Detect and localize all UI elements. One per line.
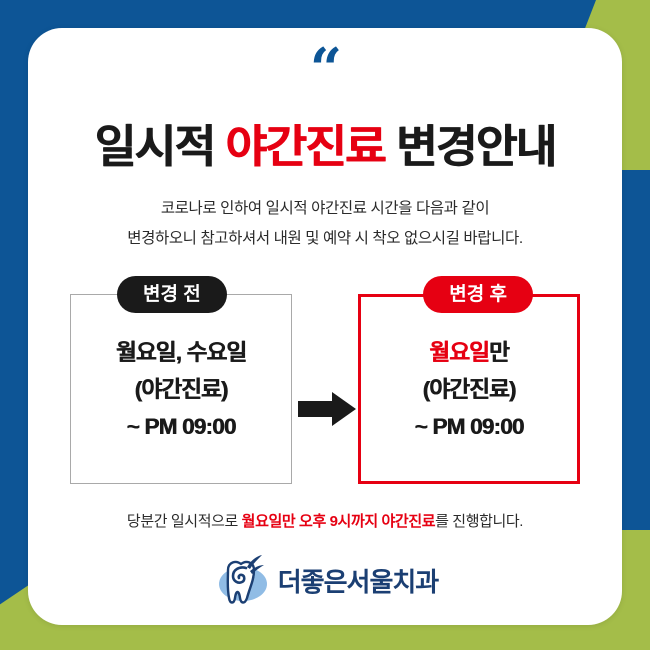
panel-after-line-2: (야간진료) [415,371,524,408]
page-title: 일시적 야간진료 변경안내 [95,110,556,175]
clinic-name: 더좋은서울치과 [278,562,438,599]
panel-after-line-3: ~ PM 09:00 [415,408,524,445]
panel-before-line-1: 월요일, 수요일 [116,334,246,371]
panel-before: 월요일, 수요일 (야간진료) ~ PM 09:00 [70,294,292,484]
panel-after-line-1-red: 월요일 [429,340,489,365]
poster-root: “ 일시적 야간진료 변경안내 코로나로 인하여 일시적 야간진료 시간을 다음… [0,0,650,650]
quote-mark-icon: “ [310,50,340,88]
panel-after-line-1: 월요일만 [415,334,524,371]
panel-before-content: 월요일, 수요일 (야간진료) ~ PM 09:00 [116,334,246,445]
footer-note: 당분간 일시적으로 월요일만 오후 9시까지 야간진료를 진행합니다. [127,510,523,531]
arrow-right-icon [298,392,356,426]
panel-after-line-1-rest: 만 [489,340,509,365]
notice-card: “ 일시적 야간진료 변경안내 코로나로 인하여 일시적 야간진료 시간을 다음… [28,28,622,625]
panel-before-line-3: ~ PM 09:00 [116,408,246,445]
page-title-part1: 일시적 [95,121,226,172]
footer-note-highlight: 월요일만 오후 9시까지 야간진료 [242,513,435,530]
panel-after: 월요일만 (야간진료) ~ PM 09:00 [358,294,580,484]
clinic-logo: 더좋은서울치과 [212,554,438,606]
badge-before: 변경 전 [117,276,227,313]
subtitle-line-2: 변경하오니 참고하셔서 내원 및 예약 시 착오 없으시길 바랍니다. [127,224,523,254]
panel-before-line-2: (야간진료) [116,371,246,408]
footer-note-suffix: 를 진행합니다. [435,513,523,530]
panel-after-content: 월요일만 (야간진료) ~ PM 09:00 [415,334,524,445]
subtitle-block: 코로나로 인하여 일시적 야간진료 시간을 다음과 같이 변경하오니 참고하셔서… [127,194,523,254]
subtitle-line-1: 코로나로 인하여 일시적 야간진료 시간을 다음과 같이 [127,194,523,224]
tooth-logo-icon [212,554,270,606]
page-title-highlight: 야간진료 [225,121,385,172]
page-title-part2: 변경안내 [385,121,556,172]
comparison-section: 월요일, 수요일 (야간진료) ~ PM 09:00 월요일만 (야간진료) ~… [70,276,580,486]
badge-after: 변경 후 [423,276,533,313]
footer-note-prefix: 당분간 일시적으로 [127,513,242,530]
